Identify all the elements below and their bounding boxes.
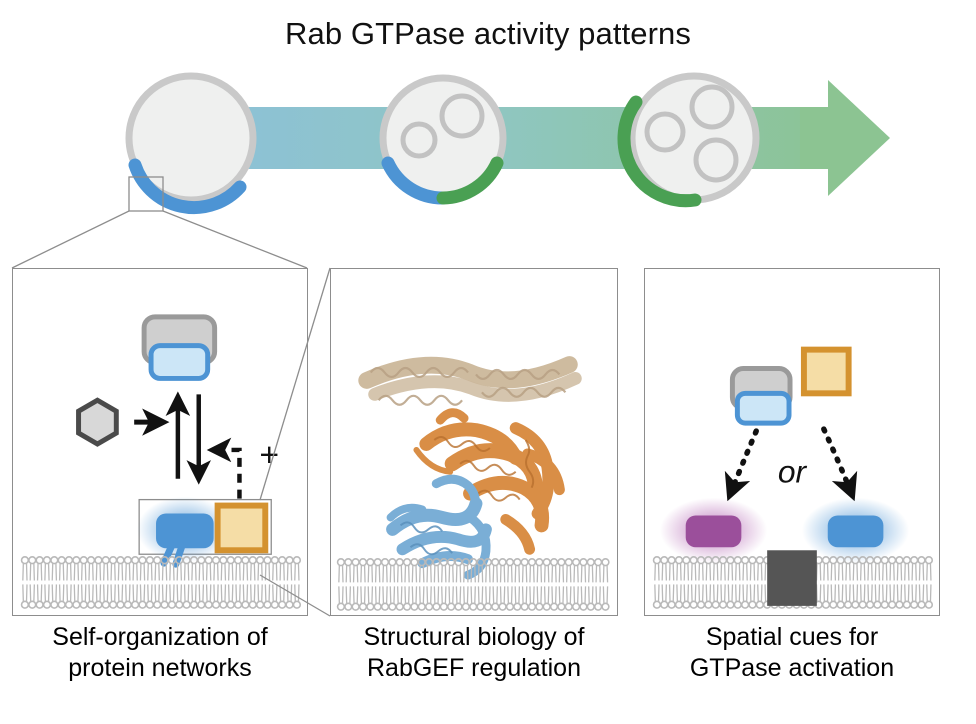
caption-line: Structural biology of <box>326 622 622 653</box>
panel-2-graphic <box>331 269 617 615</box>
caption-panel-2: Structural biology of RabGEF regulation <box>326 622 622 684</box>
panel-captions: Self-organization of protein networks St… <box>0 622 976 718</box>
stage-early-compartment <box>129 76 253 208</box>
panel-self-organization[interactable]: + <box>12 268 308 616</box>
lipid-bilayer <box>338 559 609 610</box>
stage-late-compartment <box>624 76 756 201</box>
nucleotide-hexagon <box>79 400 117 444</box>
caption-line: protein networks <box>6 653 314 684</box>
choice-label: or <box>778 454 808 490</box>
cytosolic-rab-gdi-complex <box>732 369 790 424</box>
caption-panel-3: Spatial cues for GTPase activation <box>640 622 944 684</box>
panel-structural-biology[interactable] <box>330 268 618 616</box>
feedback-plus-sign: + <box>259 436 279 474</box>
caption-panel-1: Self-organization of protein networks <box>6 622 314 684</box>
rab-active-blue <box>828 516 884 548</box>
page-title: Rab GTPase activity patterns <box>0 16 976 52</box>
caption-line: Self-organization of <box>6 622 314 653</box>
maturation-arrow <box>150 80 890 196</box>
panels-row: + <box>0 268 976 618</box>
gef-square <box>804 350 849 394</box>
panel-3-graphic: or <box>645 269 939 615</box>
maturation-schematic <box>0 60 976 260</box>
rab-active-purple <box>686 516 742 548</box>
arrow-to-blue-domain <box>824 429 852 494</box>
panel-1-graphic: + <box>13 269 307 615</box>
caption-line: RabGEF regulation <box>326 653 622 684</box>
rabgef-rab-structure <box>367 365 576 576</box>
stage-intermediate-compartment <box>383 78 503 198</box>
figure-root: Rab GTPase activity patterns <box>0 0 976 724</box>
panel-spatial-cues[interactable]: or <box>644 268 940 616</box>
caption-line: Spatial cues for <box>640 622 944 653</box>
rab-gdp <box>737 393 789 423</box>
caption-line: GTPase activation <box>640 653 944 684</box>
rab-gdp <box>151 346 208 379</box>
arrow-to-purple-domain <box>730 431 756 494</box>
cytosolic-rab-gdi-complex <box>144 317 215 379</box>
diffusion-barrier <box>767 550 817 606</box>
feedback-arrow <box>212 450 240 499</box>
gef-square <box>218 506 266 551</box>
